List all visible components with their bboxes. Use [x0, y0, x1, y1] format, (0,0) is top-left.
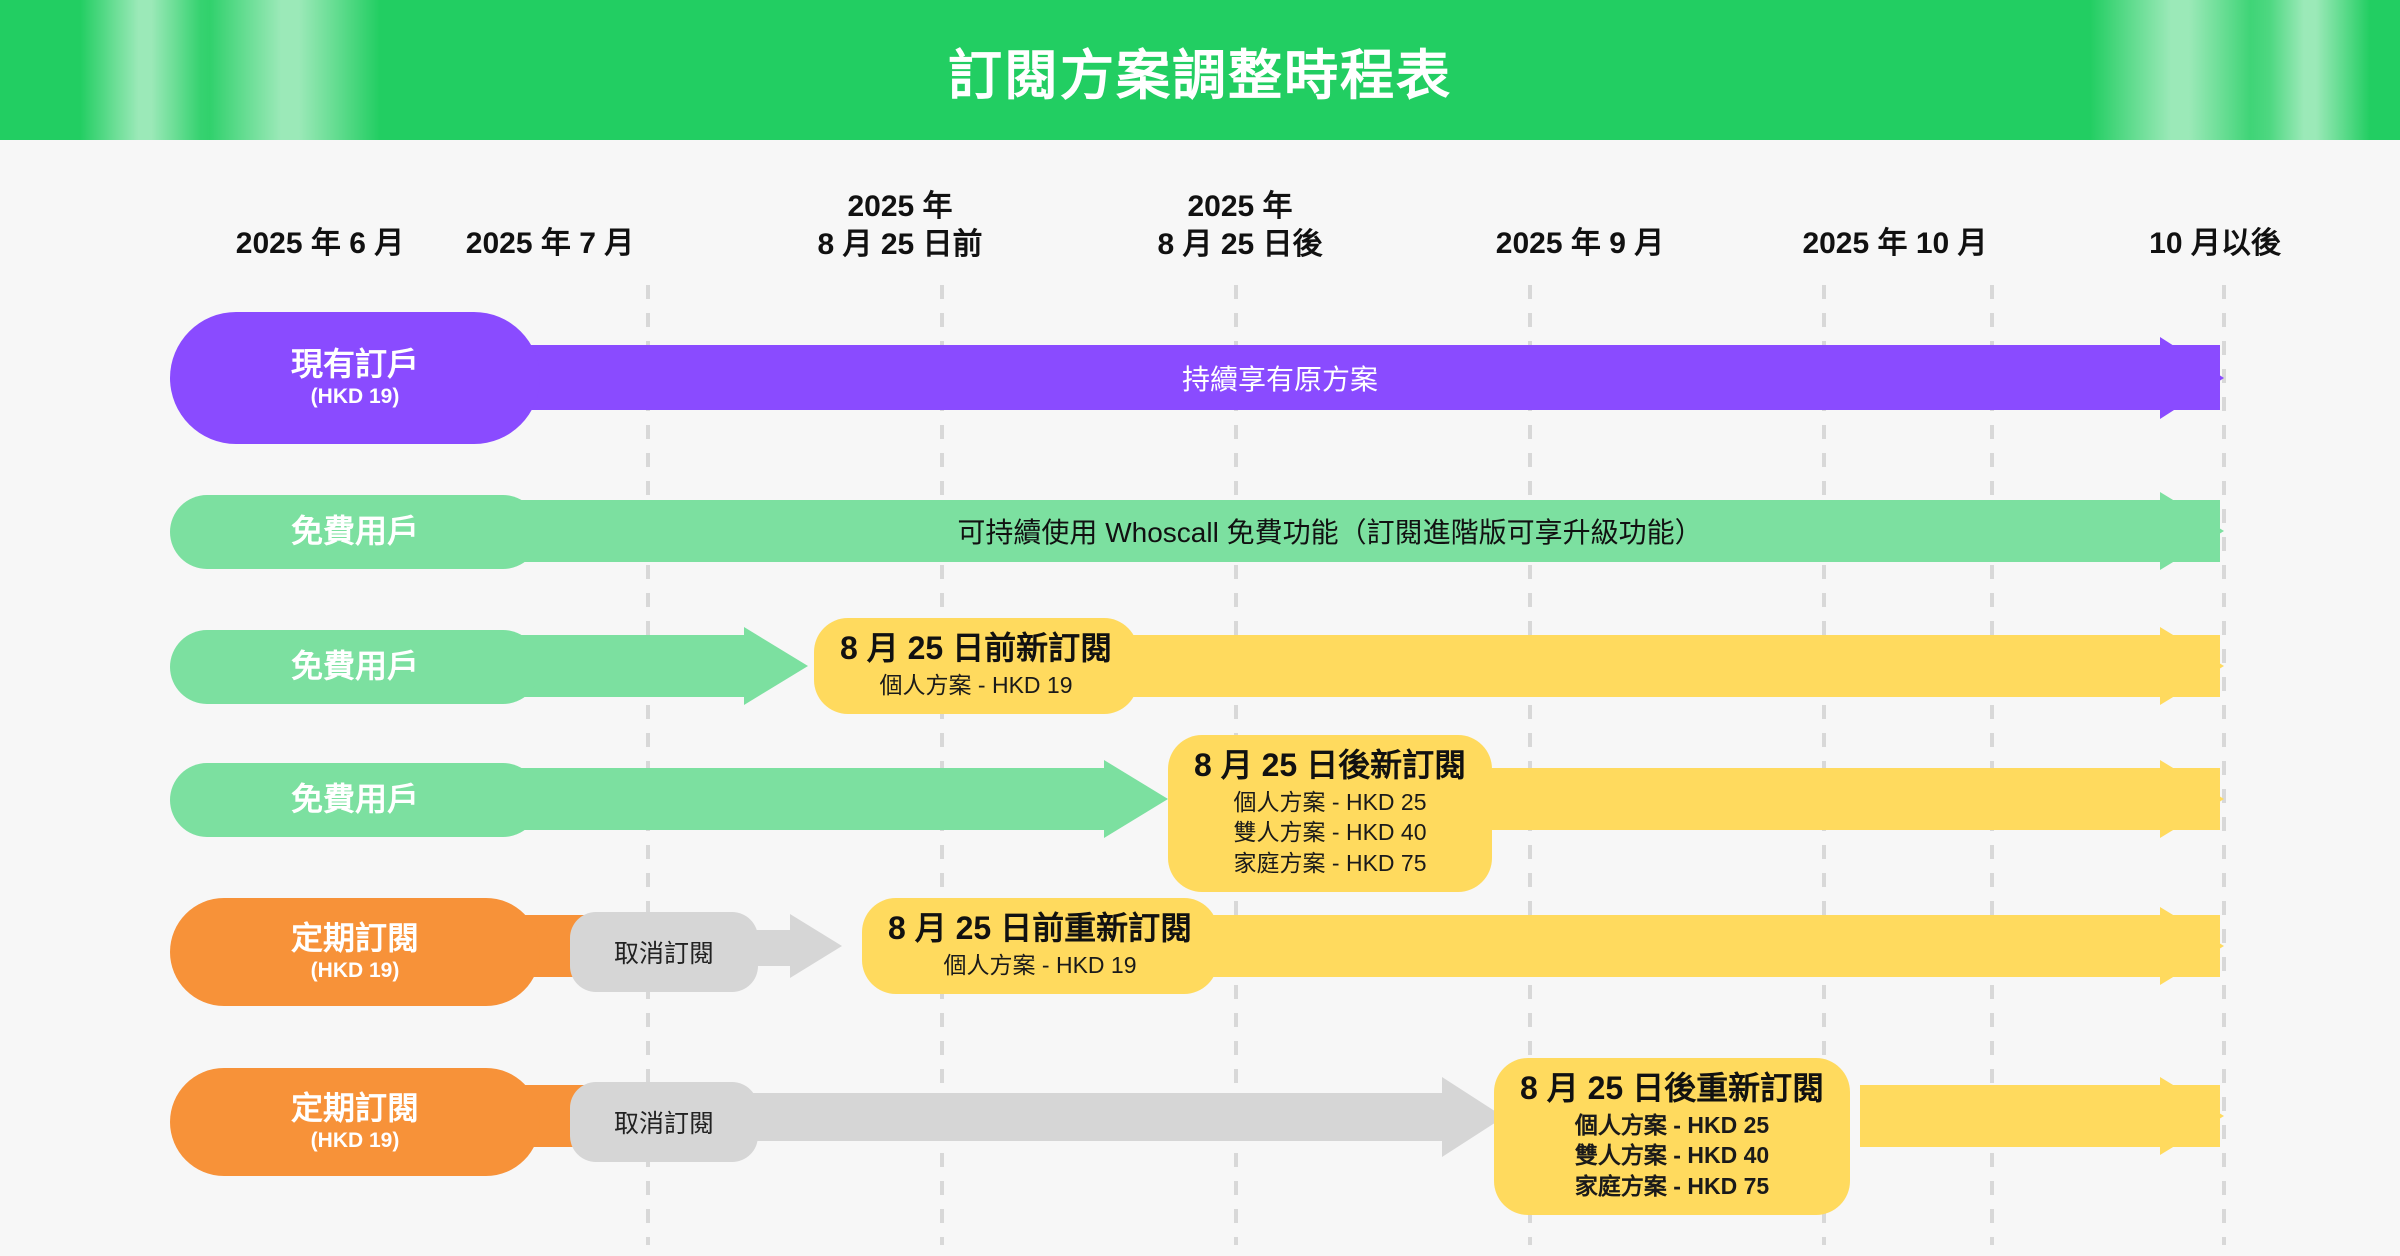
- row-1-arrowhead-icon: [2160, 337, 2224, 419]
- row-1-pill: 現有訂戶 (HKD 19): [170, 312, 540, 444]
- column-header-line1: 2025 年 10 月: [1730, 225, 2060, 263]
- row-5-cancel-chip-label: 取消訂閱: [614, 934, 714, 970]
- row-6-pill-subtitle: (HKD 19): [311, 1129, 400, 1153]
- row-1-pill-title: 現有訂戶: [291, 347, 419, 382]
- row-3-arrowhead-icon: [2160, 627, 2224, 705]
- column-header-1: 2025 年 7 月: [420, 225, 680, 263]
- timeline-infographic: 訂閱方案調整時程表 2025 年 6 月 2025 年 7 月 2025 年 8…: [0, 0, 2400, 1256]
- row-6-pill-title: 定期訂閱: [291, 1091, 419, 1126]
- row-6-card: 8 月 25 日後重新訂閱 個人方案 - HKD 25 雙人方案 - HKD 4…: [1494, 1058, 1850, 1215]
- row-1-pill-subtitle: (HKD 19): [311, 385, 400, 409]
- row-4-green-arrowhead-icon: [1104, 760, 1168, 838]
- column-header-2: 2025 年 8 月 25 日前: [760, 188, 1040, 265]
- column-header-3: 2025 年 8 月 25 日後: [1100, 188, 1380, 265]
- row-3-pill: 免費用戶: [170, 630, 540, 704]
- row-3-card: 8 月 25 日前新訂閱 個人方案 - HKD 19: [814, 618, 1138, 714]
- row-6-card-line-2: 家庭方案 - HKD 75: [1575, 1171, 1769, 1201]
- column-header-line1: 2025 年 7 月: [420, 225, 680, 263]
- row-3-card-line-0: 個人方案 - HKD 19: [880, 670, 1073, 700]
- row-2-pill: 免費用戶: [170, 495, 540, 569]
- row-5-card-line-0: 個人方案 - HKD 19: [944, 950, 1137, 980]
- column-header-4: 2025 年 9 月: [1430, 225, 1730, 263]
- row-4-card-line-0: 個人方案 - HKD 25: [1234, 787, 1427, 817]
- row-4-card-lines: 個人方案 - HKD 25 雙人方案 - HKD 40 家庭方案 - HKD 7…: [1234, 787, 1427, 878]
- row-5-card-lines: 個人方案 - HKD 19: [944, 950, 1137, 980]
- row-5-card-title: 8 月 25 日前重新訂閱: [888, 908, 1192, 948]
- row-6-card-lines: 個人方案 - HKD 25 雙人方案 - HKD 40 家庭方案 - HKD 7…: [1575, 1110, 1769, 1201]
- row-5-yellow-bar: [1100, 915, 2220, 977]
- row-4-pill: 免費用戶: [170, 763, 540, 837]
- row-6-arrowhead-icon: [2160, 1077, 2224, 1155]
- row-5-card: 8 月 25 日前重新訂閱 個人方案 - HKD 19: [862, 898, 1218, 994]
- row-5-cancel-chip: 取消訂閱: [570, 912, 758, 992]
- column-header-0: 2025 年 6 月: [190, 225, 450, 263]
- row-3-green-arrowhead-icon: [744, 627, 808, 705]
- row-5-pill-title: 定期訂閱: [291, 921, 419, 956]
- row-6-card-line-1: 雙人方案 - HKD 40: [1575, 1140, 1769, 1170]
- row-3-card-lines: 個人方案 - HKD 19: [880, 670, 1073, 700]
- page-title: 訂閱方案調整時程表: [0, 0, 2400, 140]
- row-4-card-line-1: 雙人方案 - HKD 40: [1234, 817, 1427, 847]
- row-5-gray-arrowhead-icon: [790, 914, 842, 978]
- column-header-line1: 2025 年: [760, 188, 1040, 226]
- row-4-card: 8 月 25 日後新訂閱 個人方案 - HKD 25 雙人方案 - HKD 40…: [1168, 735, 1492, 892]
- row-6-card-line-0: 個人方案 - HKD 25: [1575, 1110, 1769, 1140]
- row-3-pill-title: 免費用戶: [291, 649, 419, 684]
- column-header-line1: 10 月以後: [2070, 225, 2360, 263]
- column-header-line1: 2025 年 9 月: [1430, 225, 1730, 263]
- row-1-bar-label: 持續享有原方案: [900, 345, 1660, 410]
- row-2-arrowhead-icon: [2160, 492, 2224, 570]
- column-header-6: 10 月以後: [2070, 225, 2360, 263]
- row-5-pill: 定期訂閱 (HKD 19): [170, 898, 540, 1006]
- row-5-arrowhead-icon: [2160, 907, 2224, 985]
- column-header-line2: 8 月 25 日前: [760, 226, 1040, 264]
- row-6-pill: 定期訂閱 (HKD 19): [170, 1068, 540, 1176]
- row-2-bar-label: 可持續使用 Whoscall 免費功能（訂閱進階版可享升級功能）: [830, 500, 1830, 562]
- column-header-line1: 2025 年: [1100, 188, 1380, 226]
- row-4-arrowhead-icon: [2160, 760, 2224, 838]
- row-3-yellow-bar: [1000, 635, 2220, 697]
- row-4-card-title: 8 月 25 日後新訂閱: [1194, 745, 1466, 785]
- column-header-line2: 8 月 25 日後: [1100, 226, 1380, 264]
- row-4-yellow-bar: [1400, 768, 2220, 830]
- row-6-card-title: 8 月 25 日後重新訂閱: [1520, 1068, 1824, 1108]
- row-3-card-title: 8 月 25 日前新訂閱: [840, 628, 1112, 668]
- row-5-pill-subtitle: (HKD 19): [311, 959, 400, 983]
- row-4-card-line-2: 家庭方案 - HKD 75: [1234, 848, 1427, 878]
- row-4-pill-title: 免費用戶: [291, 782, 419, 817]
- row-6-cancel-chip: 取消訂閱: [570, 1082, 758, 1162]
- column-header-line1: 2025 年 6 月: [190, 225, 450, 263]
- row-6-cancel-chip-label: 取消訂閱: [614, 1104, 714, 1140]
- column-header-5: 2025 年 10 月: [1730, 225, 2060, 263]
- row-2-pill-title: 免費用戶: [291, 514, 419, 549]
